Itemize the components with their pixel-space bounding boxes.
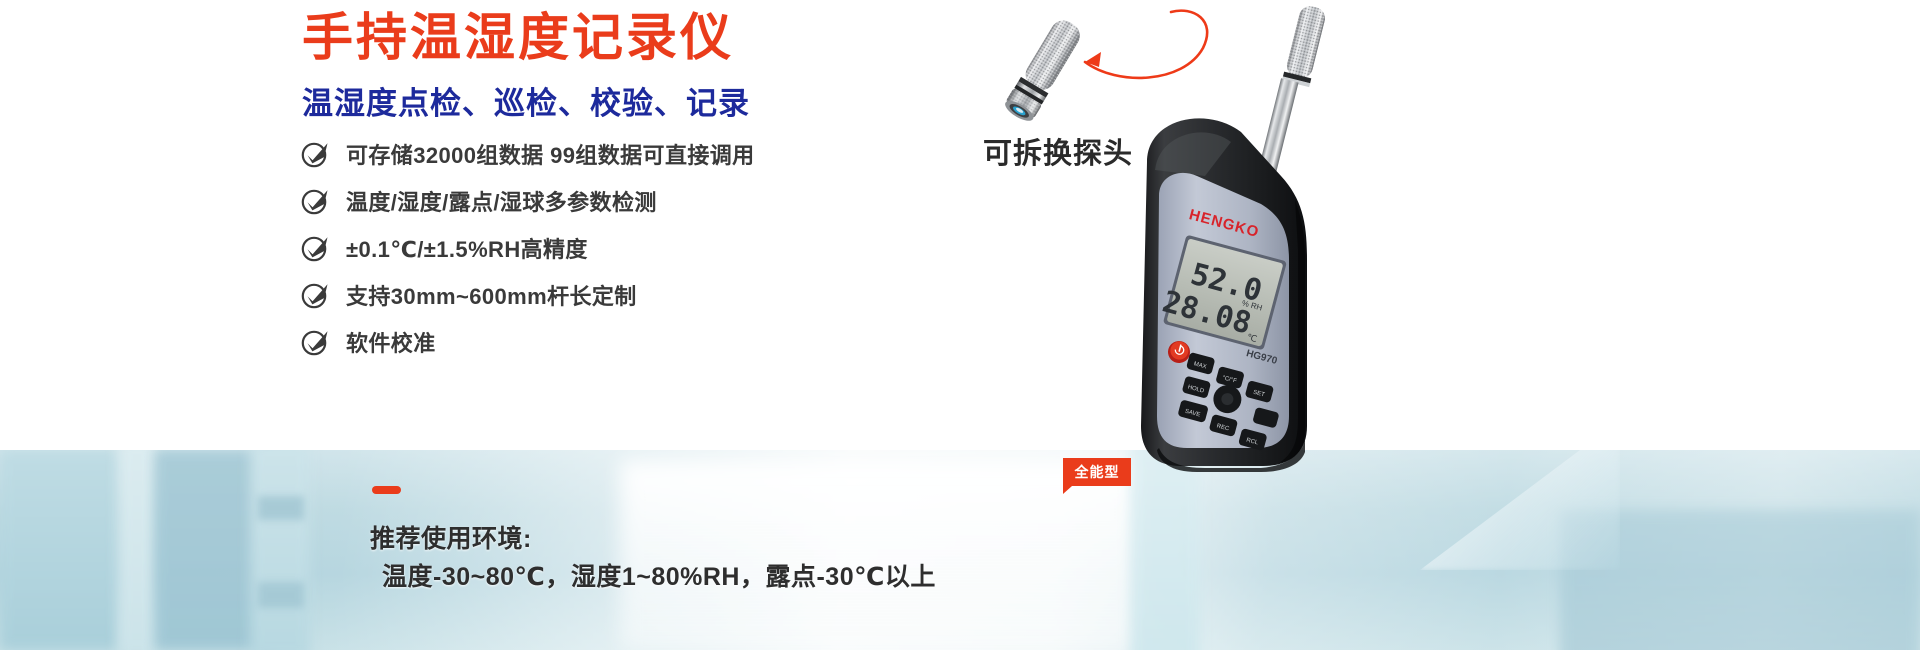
probe-callout-label: 可拆换探头 [983,130,1133,172]
check-circle-icon [300,327,330,357]
feature-list: 可存储32000组数据 99组数据可直接调用 温度/湿度/露点/湿球多参数检测 … [300,130,755,365]
list-item: 温度/湿度/露点/湿球多参数检测 [300,177,755,224]
list-item: 可存储32000组数据 99组数据可直接调用 [300,130,755,177]
band-shape [0,450,120,650]
check-circle-icon [300,233,330,263]
background-photo-band [0,450,1920,650]
check-circle-icon [300,186,330,216]
list-item: 支持30mm~600mm杆长定制 [300,271,755,318]
band-shape [118,450,156,650]
list-item: 软件校准 [300,318,755,365]
check-circle-icon [300,280,330,310]
recommendation-detail: 温度-30~80℃，湿度1~80%RH，露点-30℃以上 [382,557,936,593]
list-item-label: 支持30mm~600mm杆长定制 [346,279,637,311]
status-badge-label: 全能型 [1075,462,1120,482]
band-shape [250,450,310,650]
list-item-label: 软件校准 [346,326,436,358]
band-shape [258,496,304,520]
status-badge: 全能型 [1063,458,1131,486]
section-divider-dash [372,486,401,494]
device-image: HENGKO 52.0 % RH 28.08 ℃ HG970 [1055,0,1415,520]
banner-subtitle: 温湿度点检、巡检、校验、记录 [302,78,750,123]
product-banner: 手持温湿度记录仪 温湿度点检、巡检、校验、记录 可存储32000组数据 99组数… [0,0,1920,650]
check-circle-icon [300,139,330,169]
band-shape [1420,450,1620,570]
list-item-label: ±0.1℃/±1.5%RH高精度 [346,232,588,264]
list-item: ±0.1℃/±1.5%RH高精度 [300,224,755,271]
list-item-label: 温度/湿度/露点/湿球多参数检测 [346,185,657,217]
recommendation-title: 推荐使用环境: [370,519,532,555]
band-shape [258,582,304,608]
list-item-label: 可存储32000组数据 99组数据可直接调用 [346,138,755,170]
banner-title: 手持温湿度记录仪 [302,8,734,68]
